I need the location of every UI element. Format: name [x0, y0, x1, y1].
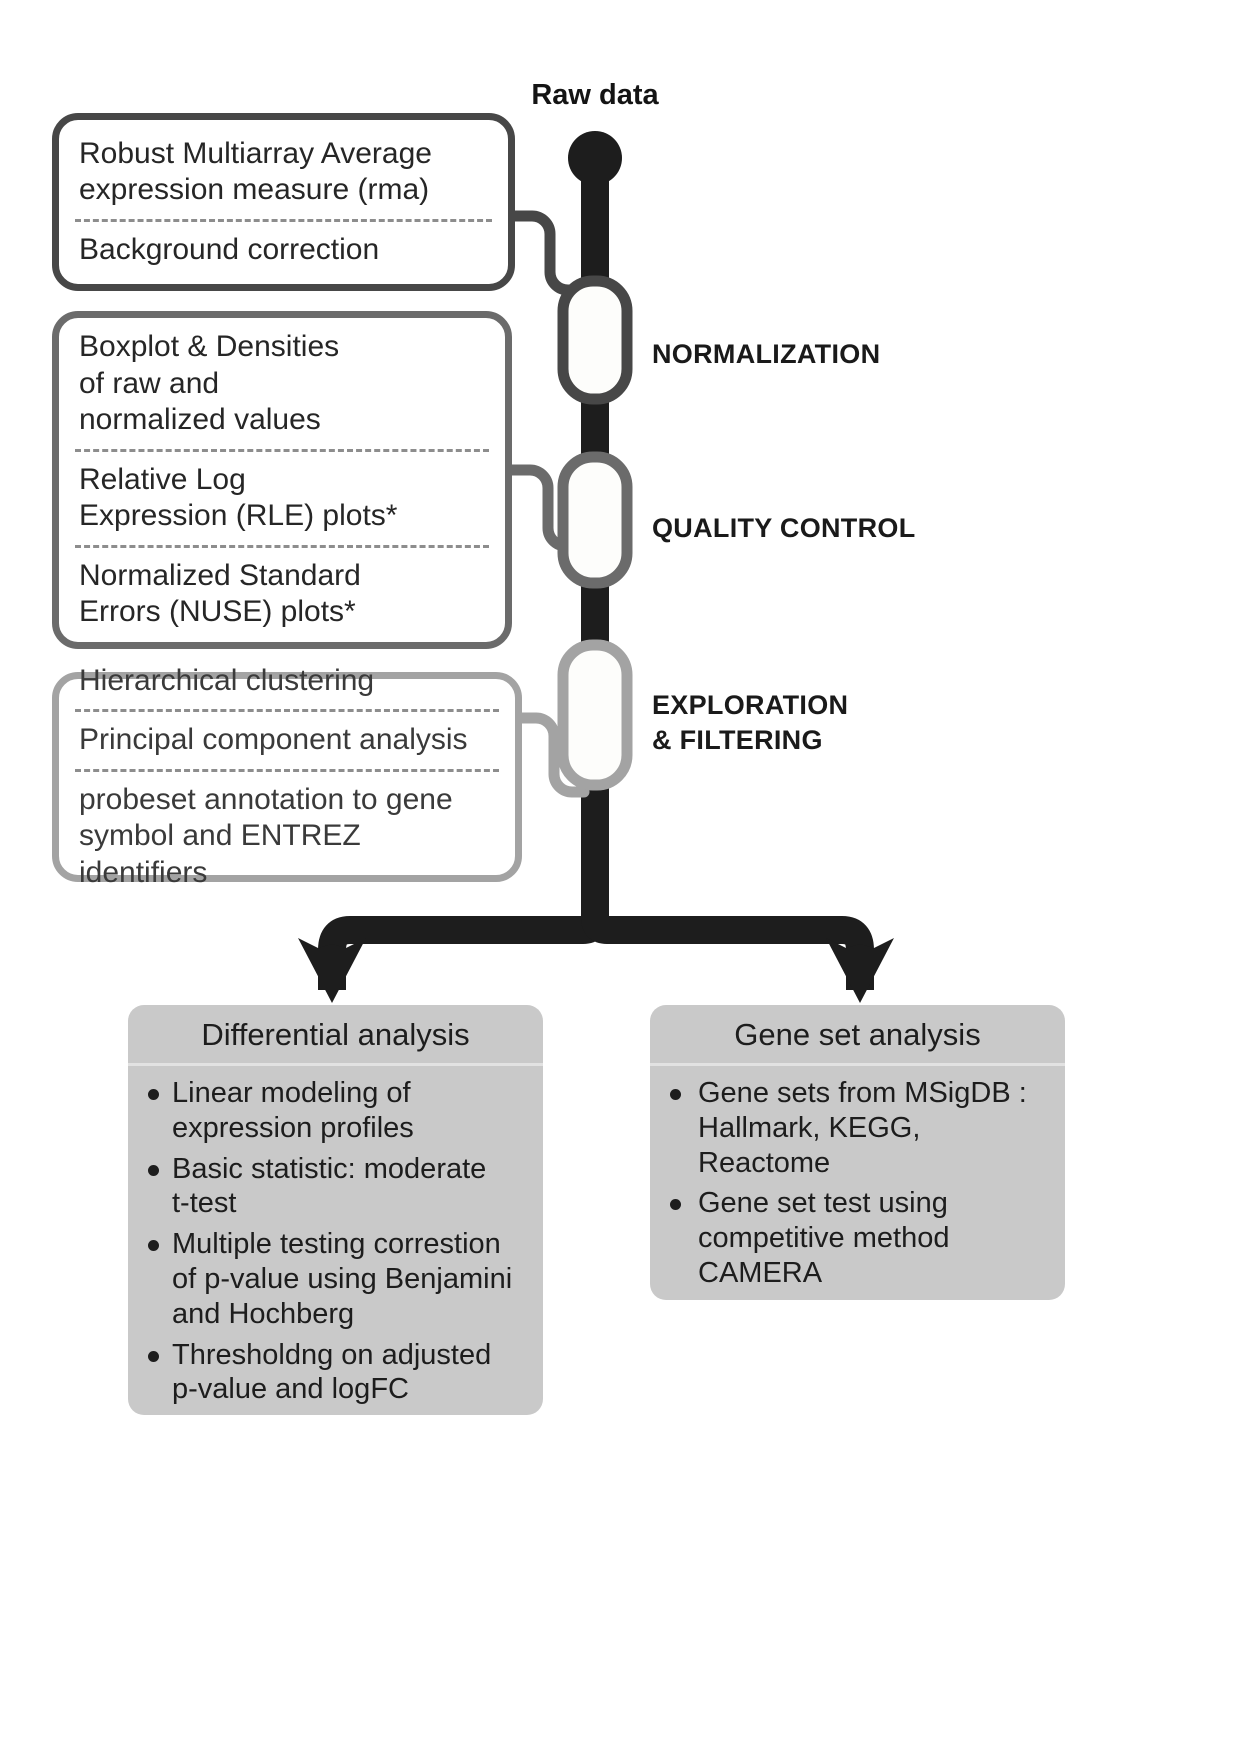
- stage-box-normalization: Robust Multiarray Average expression mea…: [52, 113, 515, 291]
- stage-label-exploration-filtering: EXPLORATION & FILTERING: [652, 688, 848, 757]
- panel-bullet-list: Linear modeling of expression profiles B…: [128, 1066, 543, 1415]
- panel-bullet-list: Gene sets from MSigDB : Hallmark, KEGG, …: [650, 1066, 1065, 1300]
- stage-step: Normalized Standard Errors (NUSE) plots*: [59, 555, 505, 634]
- output-panel-gene-set-analysis: Gene set analysis Gene sets from MSigDB …: [650, 1005, 1065, 1300]
- arrowhead-differential: [298, 938, 366, 1003]
- step-divider: [75, 709, 499, 712]
- stage-pill-normalization: [563, 281, 627, 399]
- connector-normalization: [515, 216, 580, 290]
- list-item: Gene sets from MSigDB : Hallmark, KEGG, …: [668, 1076, 1051, 1180]
- step-divider: [75, 545, 489, 548]
- stage-label-normalization: NORMALIZATION: [652, 337, 880, 372]
- spine-segment-bottom: [581, 778, 609, 910]
- list-item: Basic statistic: moderate t-test: [146, 1152, 529, 1222]
- stage-step: Principal component analysis: [59, 719, 515, 762]
- output-panel-differential-analysis: Differential analysis Linear modeling of…: [128, 1005, 543, 1415]
- stage-pill-exploration: [563, 645, 627, 785]
- list-item: Multiple testing correstion of p-value u…: [146, 1227, 529, 1331]
- stage-step: Robust Multiarray Average expression mea…: [59, 133, 508, 212]
- step-divider: [75, 769, 499, 772]
- panel-title: Differential analysis: [128, 1005, 543, 1066]
- panel-title: Gene set analysis: [650, 1005, 1065, 1066]
- stage-pill-quality-control: [563, 457, 627, 583]
- list-item: Linear modeling of expression profiles: [146, 1076, 529, 1146]
- list-item: Thresholdng on adjusted p-value and logF…: [146, 1338, 529, 1408]
- list-item: Gene set test using competitive method C…: [668, 1186, 1051, 1290]
- step-divider: [75, 219, 492, 222]
- flowchart-canvas: Raw data Robust Multiarray Average expre…: [0, 0, 1240, 1753]
- stage-box-exploration-filtering: Hierarchical clustering Principal compon…: [52, 672, 522, 882]
- raw-data-title: Raw data: [515, 79, 675, 112]
- stage-step: Background correction: [59, 229, 508, 272]
- stage-step: probeset annotation to gene symbol and E…: [59, 779, 515, 895]
- stage-label-quality-control: QUALITY CONTROL: [652, 511, 916, 546]
- stage-step: Boxplot & Densities of raw and normalize…: [59, 326, 505, 442]
- arrowhead-geneset: [826, 938, 894, 1003]
- stage-box-quality-control: Boxplot & Densities of raw and normalize…: [52, 311, 512, 649]
- branch-left: [332, 900, 595, 990]
- step-divider: [75, 449, 489, 452]
- stage-step: Relative Log Expression (RLE) plots*: [59, 459, 505, 538]
- stage-step: Hierarchical clustering: [59, 660, 515, 703]
- branch-right: [595, 900, 860, 990]
